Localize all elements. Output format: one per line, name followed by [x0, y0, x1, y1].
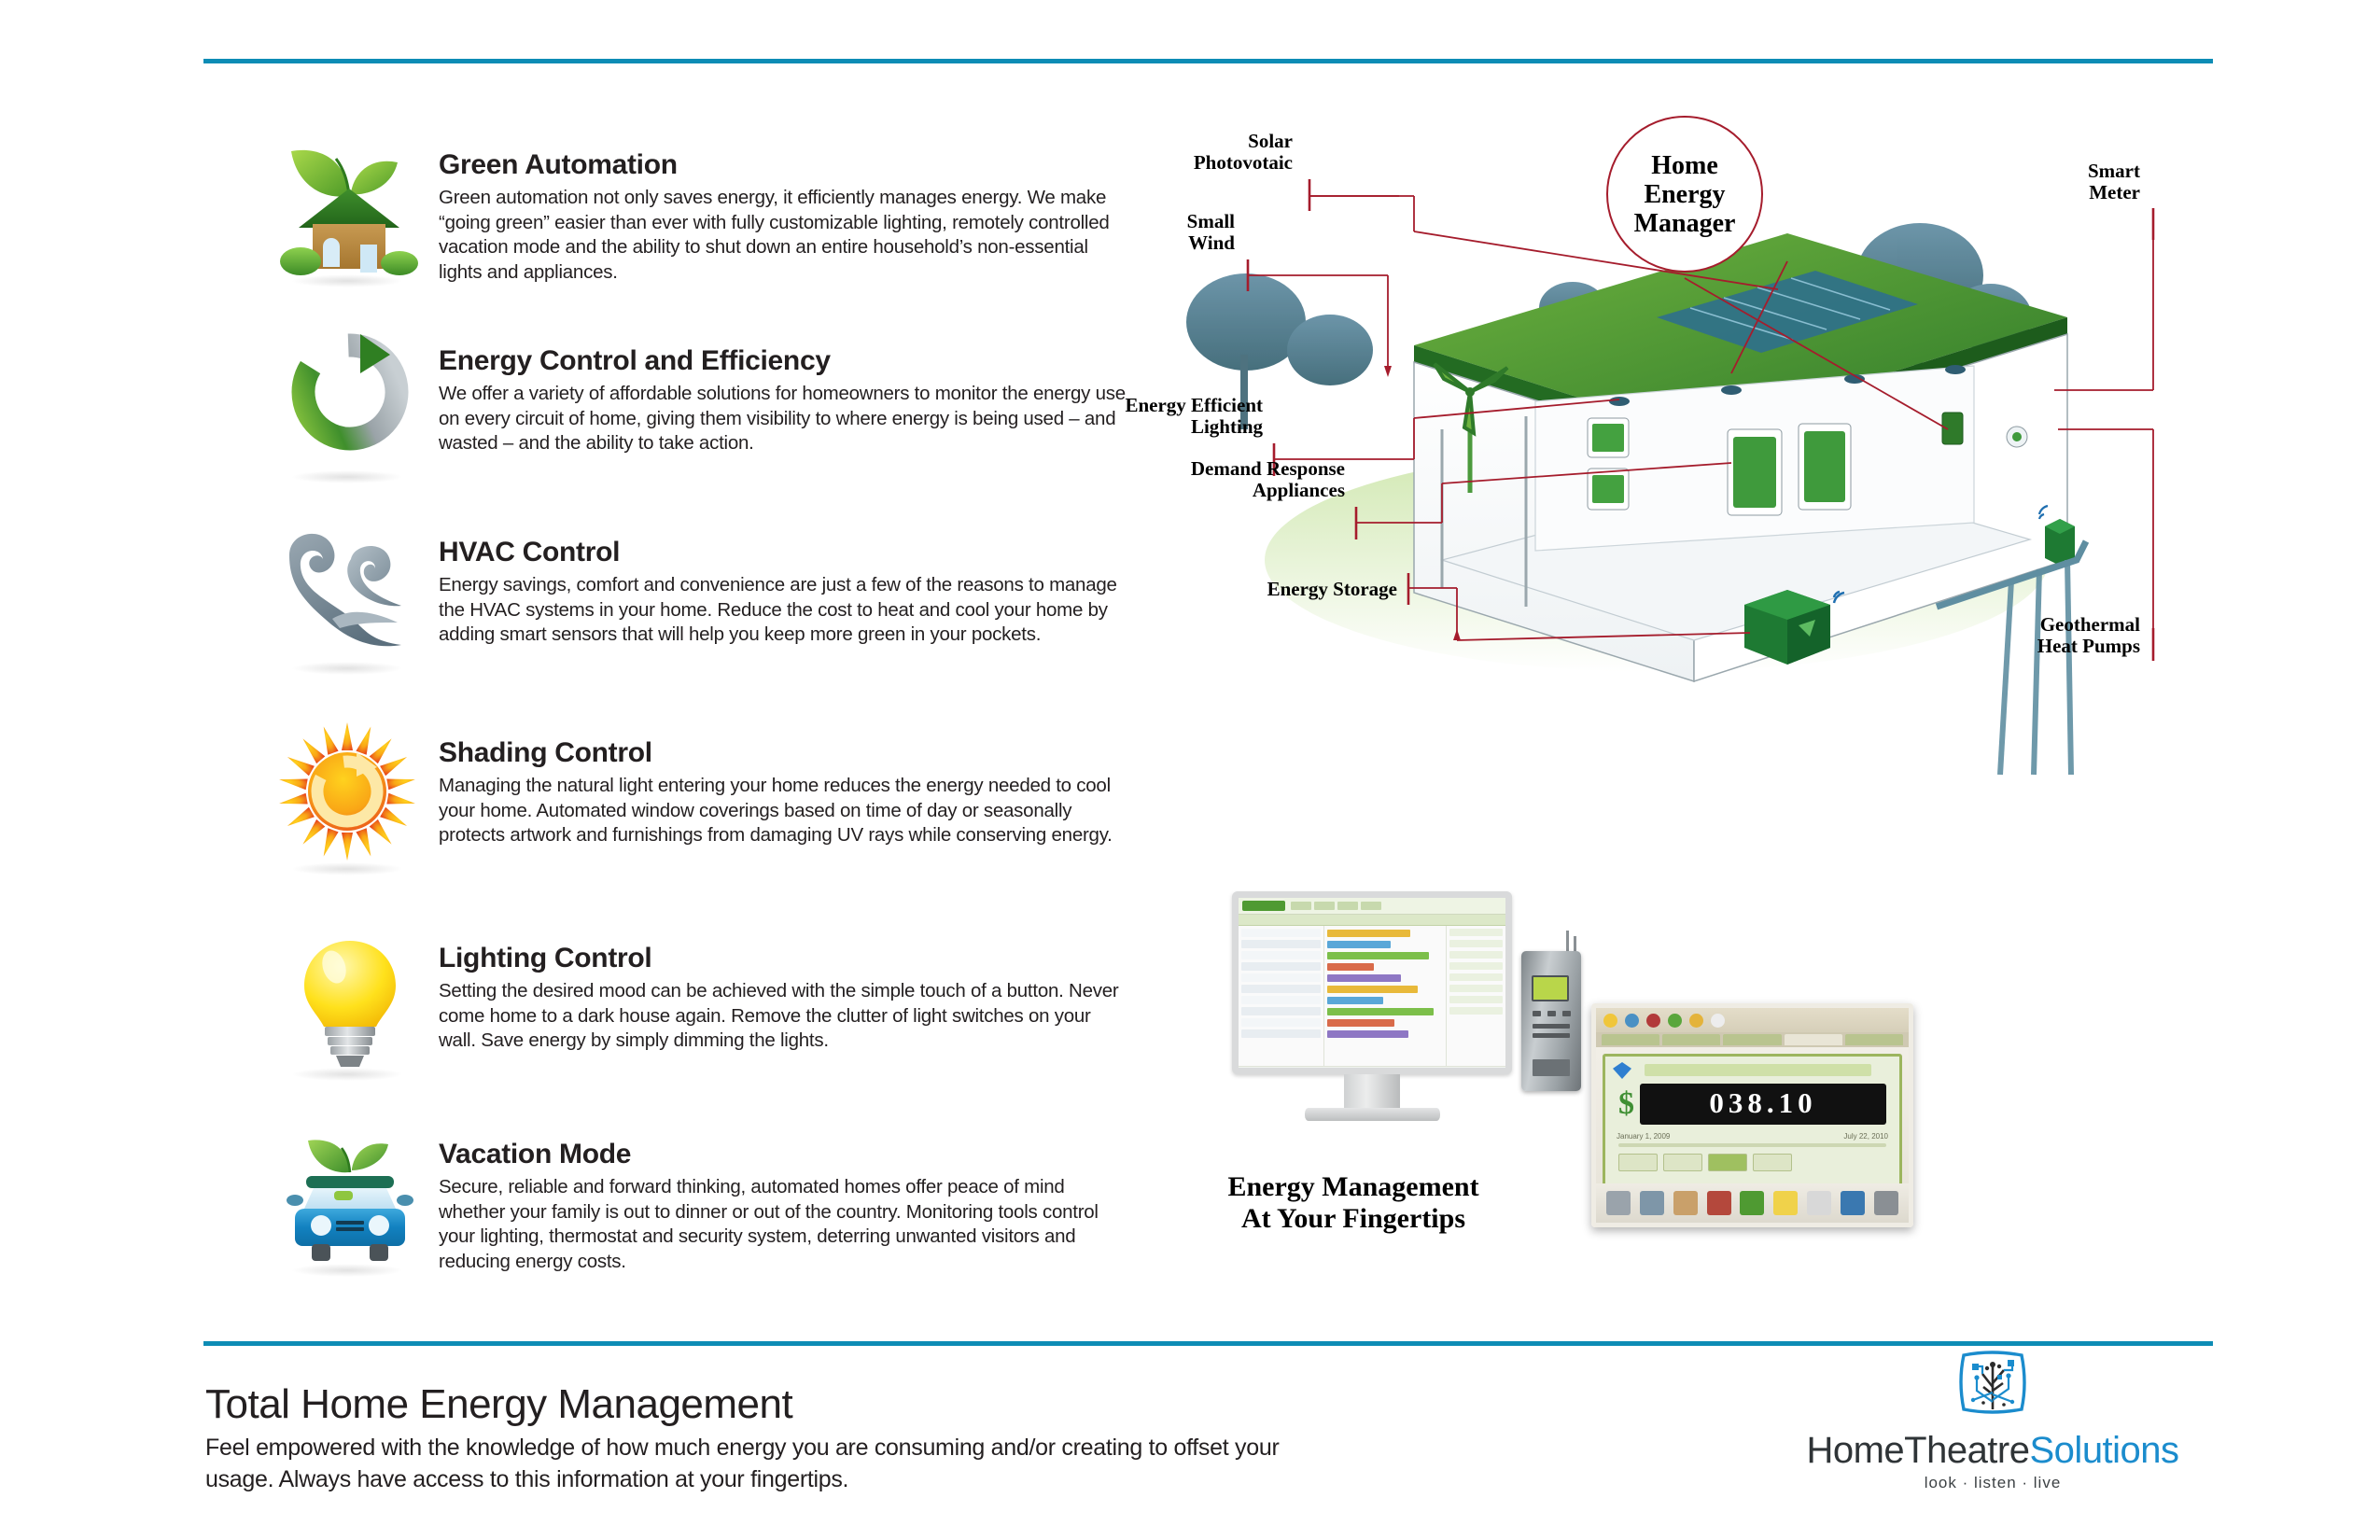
date-slider-track[interactable]: [1618, 1143, 1886, 1147]
chart-bar: [1327, 1008, 1434, 1015]
dock-icon-energy[interactable]: [1740, 1191, 1764, 1215]
panel-tab-selected[interactable]: [1785, 1034, 1842, 1045]
touch-panel-dock: [1596, 1183, 1909, 1223]
feature-item-lighting-control: Lighting Control Setting the desired moo…: [271, 924, 1129, 1120]
currency-symbol: $: [1618, 1088, 1634, 1120]
brand-name-primary: HomeTheatre: [1806, 1430, 2029, 1471]
feature-item-shading-control: Shading Control Managing the natural lig…: [271, 719, 1129, 924]
diagram-label-smart-meter: Smart Meter: [2021, 161, 2140, 203]
dashboard-tabs: [1291, 902, 1381, 910]
footer-block: Total Home Energy Management Feel empowe…: [205, 1381, 1325, 1495]
gateway-body: [1521, 951, 1581, 1091]
dashboard-sidebar-row[interactable]: [1241, 996, 1321, 1004]
dashboard-sidebar-row[interactable]: [1241, 929, 1321, 937]
dock-icon-appliance[interactable]: [1807, 1191, 1831, 1215]
home-energy-manager-callout: Home Energy Manager: [1606, 116, 1763, 273]
cost-amount: 038.10: [1640, 1084, 1886, 1125]
gateway-button[interactable]: [1547, 1011, 1556, 1016]
panel-tab[interactable]: [1602, 1034, 1659, 1045]
dashboard-sidebar-row[interactable]: [1241, 985, 1321, 993]
panel-note: [1798, 1155, 1886, 1170]
savings-row: [1449, 962, 1503, 970]
product-caption: Energy Management At Your Fingertips: [1213, 1171, 1493, 1235]
dock-icon-climate[interactable]: [1673, 1191, 1698, 1215]
panel-button[interactable]: [1753, 1154, 1792, 1171]
chart-bar: [1327, 963, 1374, 971]
diagram-label-energy-storage: Energy Storage: [1175, 579, 1397, 600]
feature-body: Setting the desired mood can be achieved…: [439, 979, 1129, 1054]
chart-bar: [1327, 986, 1418, 993]
chart-bar: [1327, 930, 1410, 937]
dashboard-savings-panel: [1446, 926, 1505, 1066]
home-energy-diagram: Solar Photovotaic Small Wind Smart Meter…: [1134, 121, 2235, 821]
panel-button-active[interactable]: [1708, 1154, 1747, 1171]
top-divider-rule: [203, 59, 2213, 63]
dashboard-title-bar: [1239, 915, 1505, 926]
dashboard-toolbar: [1239, 898, 1505, 915]
toolbar-icon[interactable]: [1689, 1014, 1703, 1028]
dashboard-sidebar-row[interactable]: [1241, 951, 1321, 959]
cost-readout: $ 038.10: [1618, 1084, 1886, 1125]
feature-list: Green Automation Green automation not on…: [271, 131, 1129, 1316]
circuit-tree-logo-icon: [1954, 1344, 2031, 1421]
savings-row: [1449, 1007, 1503, 1015]
dashboard-tab[interactable]: [1361, 902, 1381, 910]
brand-name: HomeTheatreSolutions: [1773, 1430, 2212, 1472]
footer-body: Feel empowered with the knowledge of how…: [205, 1432, 1325, 1495]
diagram-label-small-wind: Small Wind: [1069, 211, 1235, 254]
energy-gateway-device: [1521, 931, 1587, 1103]
dock-icon-lighting[interactable]: [1773, 1191, 1798, 1215]
infographic-page: Green Automation Green automation not on…: [0, 0, 2380, 1540]
chart-bar: [1327, 1030, 1408, 1038]
dashboard-sidebar-row[interactable]: [1241, 973, 1321, 982]
dock-icon-display[interactable]: [1841, 1191, 1865, 1215]
readout-panel: $ 038.10 January 1, 2009 July 22, 2010: [1603, 1054, 1902, 1194]
panel-tab[interactable]: [1723, 1034, 1781, 1045]
panel-button-row: [1618, 1154, 1886, 1171]
savings-row: [1449, 996, 1503, 1003]
date-range-start: January 1, 2009: [1617, 1132, 1670, 1141]
feature-title: Vacation Mode: [439, 1139, 1129, 1170]
dashboard-tab[interactable]: [1291, 902, 1311, 910]
panel-button[interactable]: [1663, 1154, 1702, 1171]
touch-panel-toolbar: [1596, 1008, 1909, 1032]
panel-tab[interactable]: [1845, 1034, 1903, 1045]
dashboard-sidebar-row[interactable]: [1241, 1007, 1321, 1015]
dashboard-sidebar-row[interactable]: [1241, 1018, 1321, 1027]
gateway-screen: [1532, 975, 1569, 1001]
toolbar-icon[interactable]: [1625, 1014, 1639, 1028]
monitor-screen: [1232, 891, 1512, 1074]
toolbar-icon[interactable]: [1711, 1014, 1725, 1028]
diagram-label-demand-response-appliances: Demand Response Appliances: [1085, 458, 1345, 501]
feature-title: Shading Control: [439, 737, 1129, 769]
dock-icon-security[interactable]: [1606, 1191, 1631, 1215]
dashboard-sidebar: [1239, 926, 1324, 1066]
chart-bar: [1327, 974, 1401, 982]
feature-body: Energy savings, comfort and convenience …: [439, 573, 1129, 648]
dock-icon-media[interactable]: [1640, 1191, 1664, 1215]
brand-tagline: look · listen · live: [1773, 1474, 2212, 1492]
feature-title: Lighting Control: [439, 943, 1129, 974]
diamond-icon: [1613, 1062, 1631, 1079]
feature-item-hvac-control: HVAC Control Energy savings, comfort and…: [271, 518, 1129, 719]
dashboard-sidebar-row[interactable]: [1241, 940, 1321, 948]
monitor-stand-base: [1305, 1108, 1440, 1121]
savings-row: [1449, 973, 1503, 981]
dock-icon-settings[interactable]: [1874, 1191, 1898, 1215]
dashboard-tab[interactable]: [1337, 902, 1358, 910]
dashboard-footer: [1239, 1066, 1505, 1074]
home-energy-manager-label: Home Energy Manager: [1634, 151, 1736, 238]
feature-body: Green automation not only saves energy, …: [439, 186, 1129, 285]
feature-title: Green Automation: [439, 149, 1129, 181]
energy-touch-panel: $ 038.10 January 1, 2009 July 22, 2010: [1591, 1003, 1913, 1227]
toolbar-icon[interactable]: [1646, 1014, 1660, 1028]
dashboard-sidebar-row[interactable]: [1241, 1029, 1321, 1038]
dashboard-bar-chart: [1324, 926, 1446, 1066]
feature-item-vacation-mode: Vacation Mode Secure, reliable and forwa…: [271, 1120, 1129, 1316]
panel-tab[interactable]: [1662, 1034, 1720, 1045]
dashboard-logo: [1242, 901, 1285, 911]
diagram-label-solar-photovoltaic: Solar Photovotaic: [1115, 131, 1293, 174]
savings-row: [1449, 985, 1503, 992]
feature-body: Secure, reliable and forward thinking, a…: [439, 1175, 1129, 1274]
diagram-label-geothermal-heat-pumps: Geothermal Heat Pumps: [1995, 614, 2140, 657]
feature-item-energy-control: Energy Control and Efficiency We offer a…: [271, 327, 1129, 518]
diagram-label-energy-efficient-lighting: Energy Efficient Lighting: [1003, 395, 1263, 438]
feature-title: Energy Control and Efficiency: [439, 345, 1129, 377]
readout-heading-bar: [1645, 1064, 1871, 1076]
product-showcase: $ 038.10 January 1, 2009 July 22, 2010: [1213, 891, 2221, 1311]
gateway-port: [1533, 1059, 1570, 1076]
dashboard-tab[interactable]: [1314, 902, 1335, 910]
feature-title: HVAC Control: [439, 537, 1129, 568]
chart-bar: [1327, 952, 1429, 959]
chart-bar: [1327, 997, 1383, 1004]
desktop-monitor: [1232, 891, 1512, 1125]
dashboard-sidebar-row[interactable]: [1241, 962, 1321, 971]
savings-row: [1449, 940, 1503, 947]
touch-panel-tabs: [1596, 1032, 1909, 1047]
feature-body: Managing the natural light entering your…: [439, 774, 1129, 848]
date-range-end: July 22, 2010: [1843, 1132, 1888, 1141]
chart-bar: [1327, 941, 1391, 948]
gateway-button[interactable]: [1562, 1011, 1571, 1016]
gateway-vent: [1533, 1024, 1570, 1029]
savings-row: [1449, 951, 1503, 959]
toolbar-icon[interactable]: [1668, 1014, 1682, 1028]
feature-item-green-automation: Green Automation Green automation not on…: [271, 131, 1129, 327]
gateway-vent: [1533, 1033, 1570, 1038]
brand-name-secondary: Solutions: [2030, 1430, 2179, 1471]
monitor-stand-neck: [1344, 1074, 1400, 1110]
dashboard-body: [1239, 926, 1505, 1066]
dock-icon-alerts[interactable]: [1707, 1191, 1731, 1215]
toolbar-icon[interactable]: [1603, 1014, 1617, 1028]
panel-button[interactable]: [1618, 1154, 1658, 1171]
chart-bar: [1327, 1019, 1394, 1027]
brand-block: HomeTheatreSolutions look · listen · liv…: [1773, 1344, 2212, 1492]
savings-row: [1449, 929, 1503, 936]
date-range: January 1, 2009 July 22, 2010: [1617, 1132, 1888, 1141]
footer-title: Total Home Energy Management: [205, 1381, 1325, 1428]
gateway-button[interactable]: [1533, 1011, 1541, 1016]
